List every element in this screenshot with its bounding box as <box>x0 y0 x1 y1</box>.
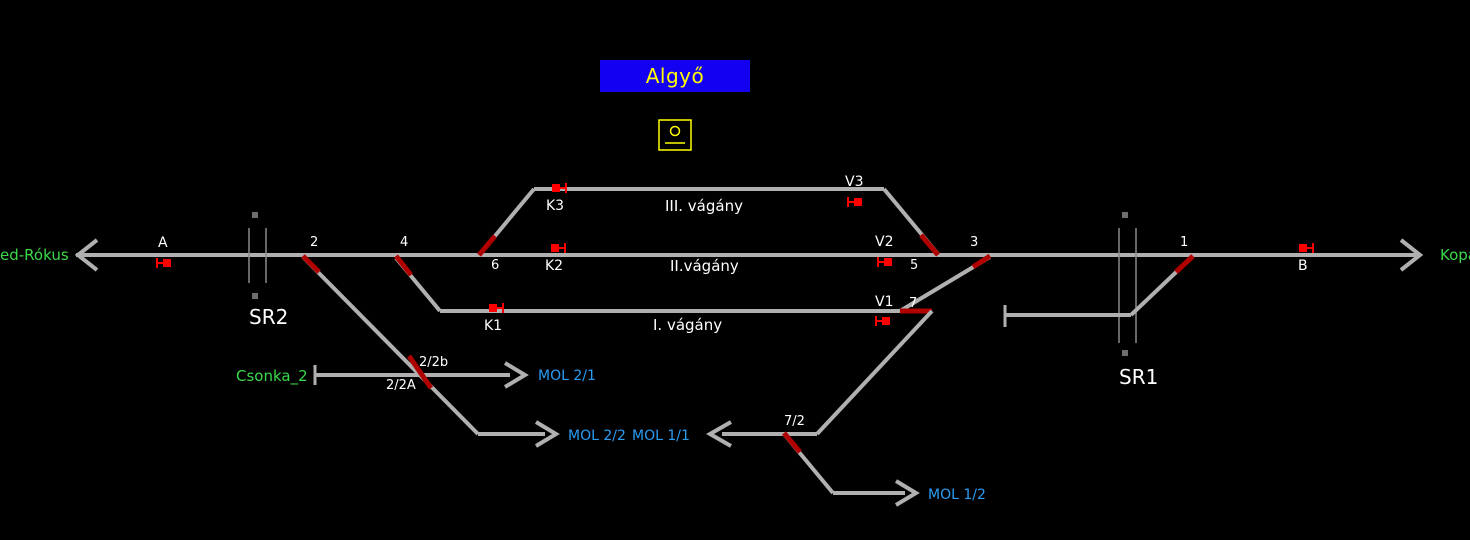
track-ii-label: II.vágány <box>670 257 739 275</box>
signal-b[interactable] <box>1299 243 1313 253</box>
switch-2-2b-label[interactable]: 2/2b <box>419 355 448 370</box>
switch-2-label[interactable]: 2 <box>310 235 318 250</box>
switch-2-2a-label[interactable]: 2/2A <box>386 378 416 393</box>
switch-5-blade[interactable] <box>921 235 938 255</box>
signal-k3[interactable] <box>552 183 566 193</box>
siding-mol-1-2-label: MOL 1/2 <box>928 487 986 503</box>
right-line-end-label: Kopá <box>1440 246 1470 264</box>
siding-mol-1-1-label: MOL 1/1 <box>632 428 690 444</box>
track-diagram-panel: Algyő <box>0 0 1470 540</box>
switch-7-2-branch[interactable] <box>784 434 916 505</box>
track-i-label: I. vágány <box>653 316 722 334</box>
switch-7-2-label[interactable]: 7/2 <box>784 414 805 429</box>
switch-4-blade[interactable] <box>396 256 411 275</box>
siding-mol-2-1-label: MOL 2/1 <box>538 368 596 384</box>
signal-k2-label: K2 <box>545 258 563 274</box>
signal-v3-label: V3 <box>845 174 863 190</box>
boundary-sr2-label: SR2 <box>249 305 288 329</box>
siding-mol-2-2-label: MOL 2/2 <box>568 428 626 444</box>
signal-a[interactable] <box>157 258 171 268</box>
switch-1-label[interactable]: 1 <box>1180 235 1188 250</box>
signal-k2[interactable] <box>551 243 565 253</box>
signal-k1-label: K1 <box>484 318 502 334</box>
switch-2-blade[interactable] <box>303 256 319 272</box>
siding-csonka-2-label: Csonka_2 <box>236 367 308 385</box>
switch-6-blade[interactable] <box>479 236 495 255</box>
signal-v1-label: V1 <box>875 294 893 310</box>
signal-v2-label: V2 <box>875 234 893 250</box>
switch-4-label[interactable]: 4 <box>400 235 408 250</box>
switch-3-blade[interactable] <box>973 256 990 267</box>
left-line-end-label: ed-Rókus <box>0 246 69 264</box>
signal-b-label: B <box>1298 258 1308 274</box>
switch-6-label[interactable]: 6 <box>491 258 499 273</box>
signal-a-label: A <box>158 235 168 251</box>
signal-k3-label: K3 <box>546 198 564 214</box>
switch-3-label[interactable]: 3 <box>970 235 978 250</box>
signal-v1[interactable] <box>876 316 890 326</box>
switch-7-branch[interactable] <box>710 311 932 446</box>
boundary-marker-sr1 <box>1119 212 1136 356</box>
boundary-sr1-label: SR1 <box>1119 365 1158 389</box>
stub-siding-track[interactable] <box>1005 257 1192 327</box>
signal-v3[interactable] <box>848 197 862 207</box>
signal-v2[interactable] <box>878 257 892 267</box>
switch-7-label[interactable]: 7 <box>909 296 917 311</box>
switch-5-label[interactable]: 5 <box>910 258 918 273</box>
track-iii-label: III. vágány <box>665 197 743 215</box>
station-clock-icon[interactable] <box>659 120 691 150</box>
switch-2-branch[interactable] <box>303 257 556 446</box>
switch-1-blade[interactable] <box>1176 256 1193 272</box>
